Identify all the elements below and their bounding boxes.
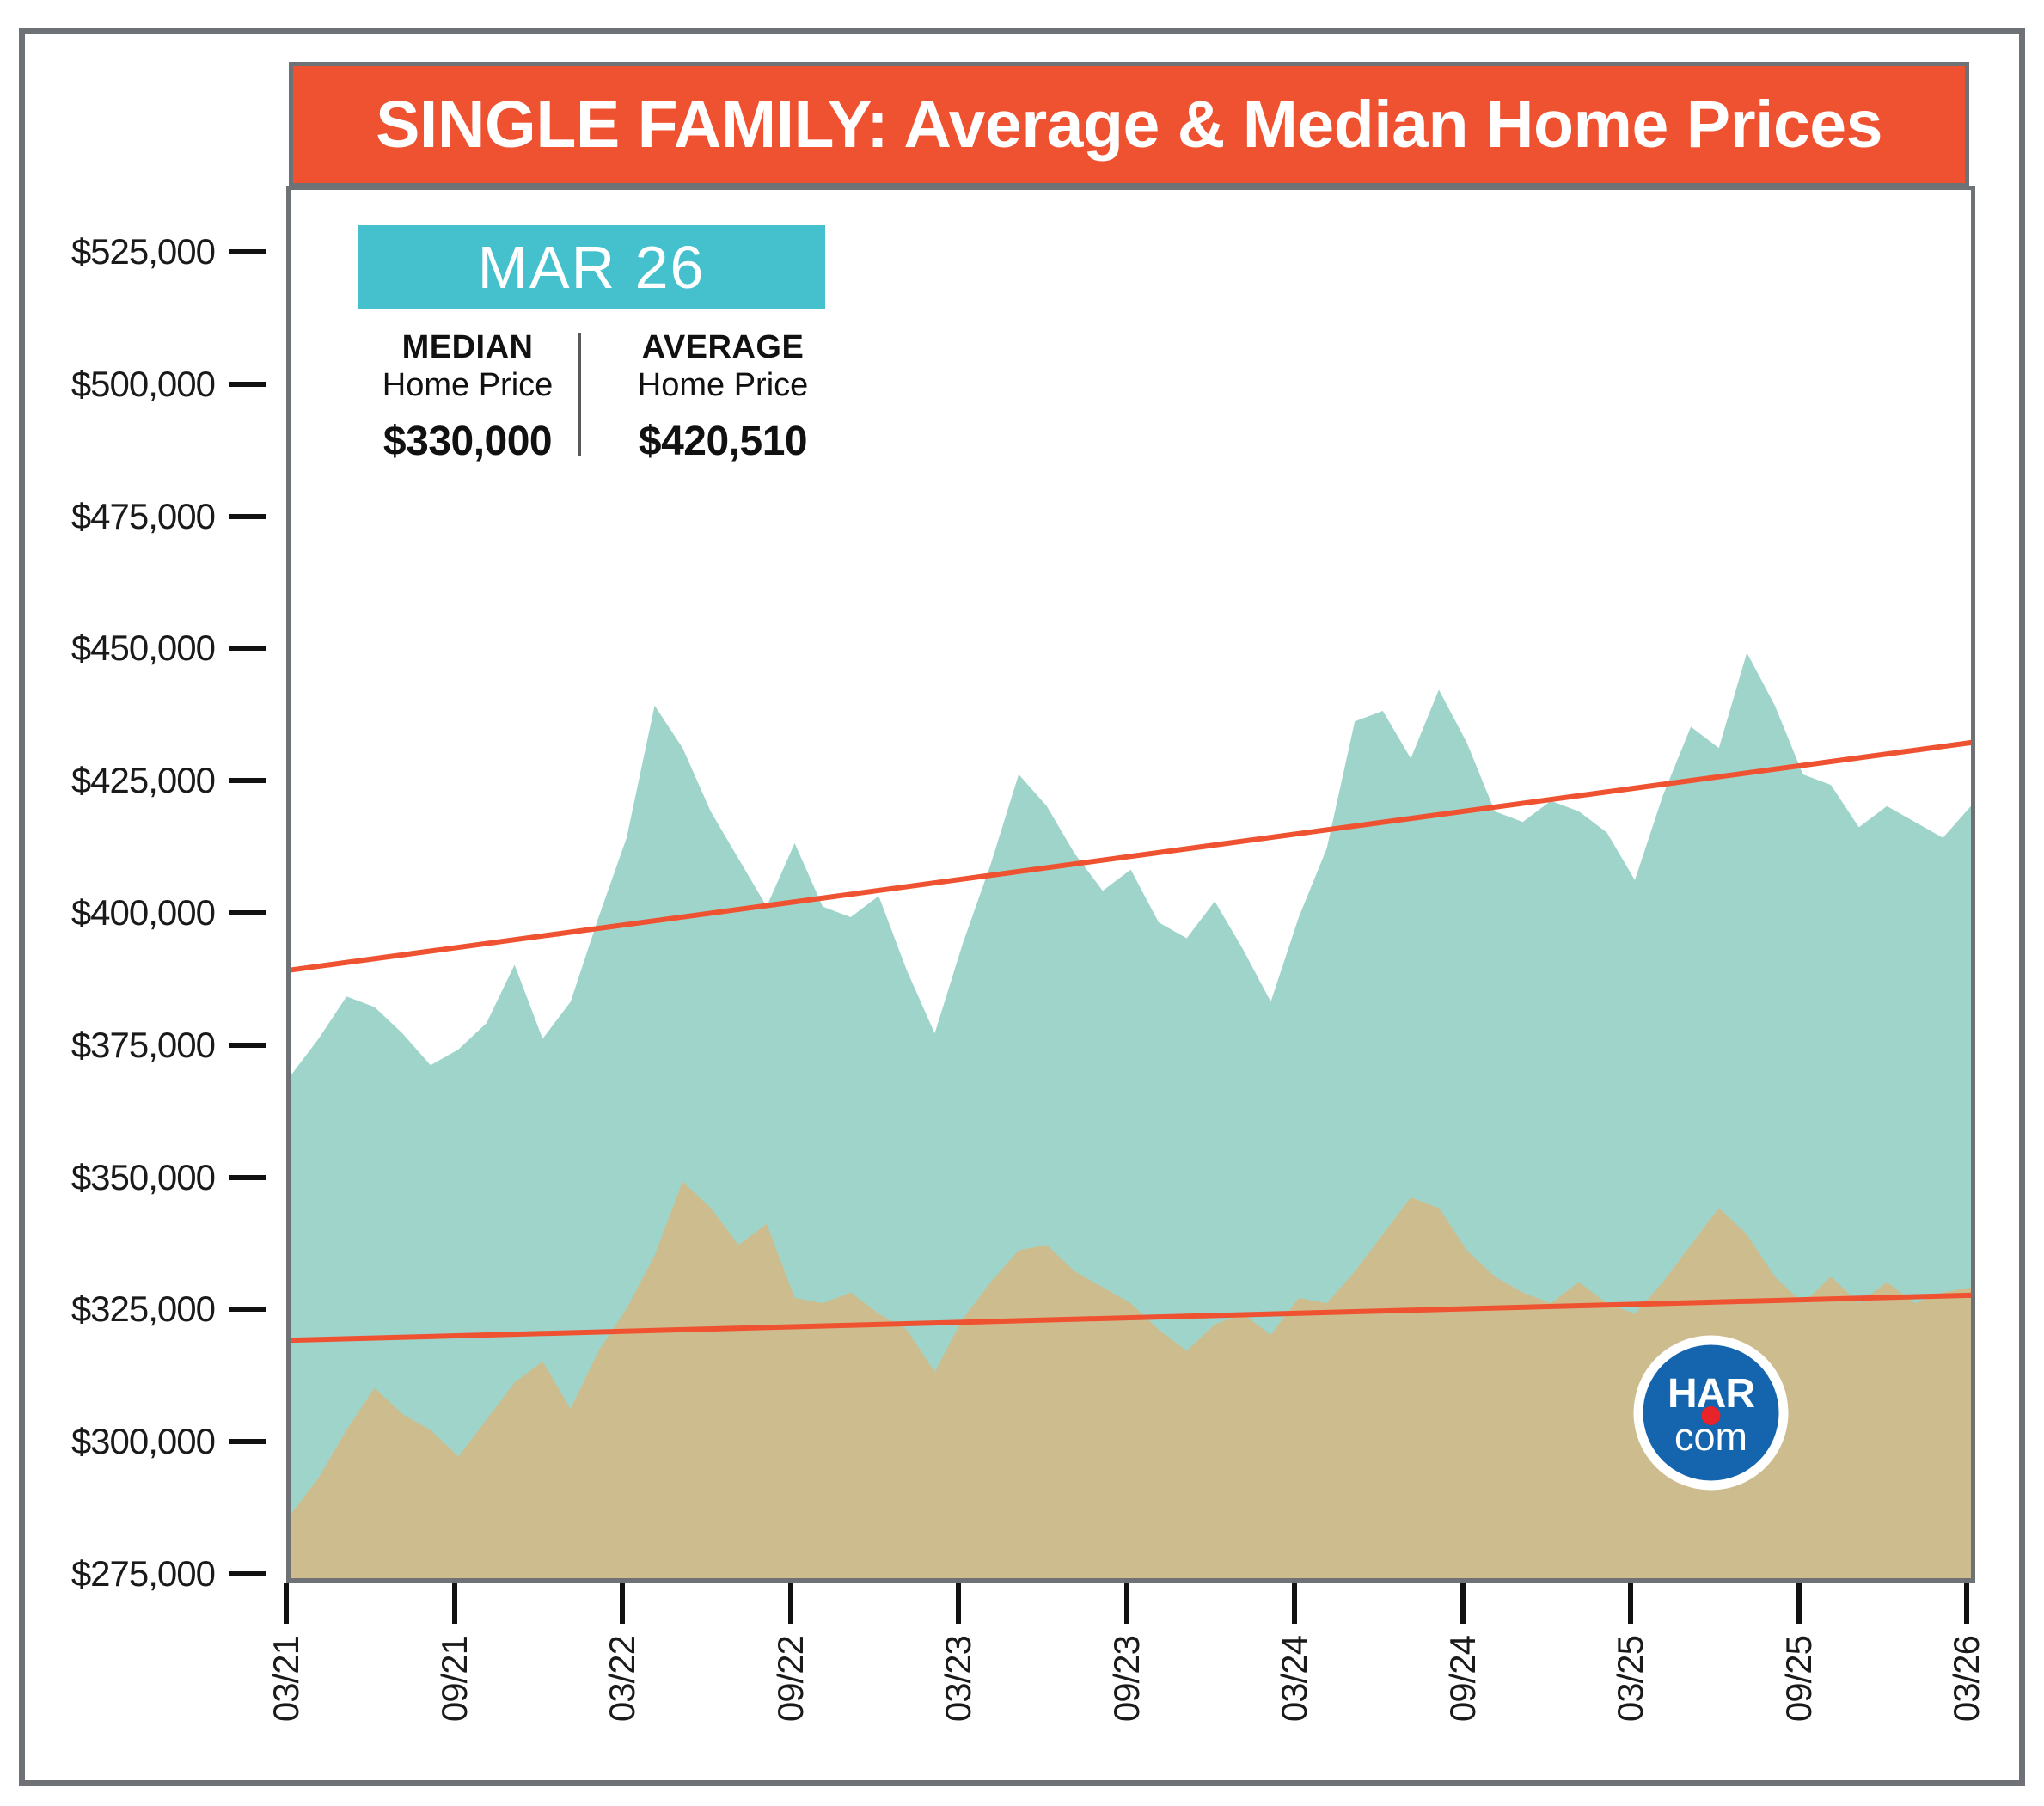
y-axis-tick-label: $375,000 xyxy=(71,1025,215,1066)
stats-row: MEDIAN Home Price $330,000 AVERAGE Home … xyxy=(358,329,839,465)
stats-panel: MAR 26 MEDIAN Home Price $330,000 AVERAG… xyxy=(358,225,839,465)
median-stat: MEDIAN Home Price $330,000 xyxy=(358,329,578,465)
x-axis-tick: 03/23 xyxy=(938,1583,979,1722)
x-axis-tick-mark xyxy=(1796,1583,1802,1624)
y-axis-tick: $450,000 xyxy=(71,628,266,669)
average-stat-sub: Home Price xyxy=(638,366,809,405)
month-badge: MAR 26 xyxy=(358,225,825,309)
y-axis-tick: $425,000 xyxy=(71,760,266,801)
har-com-logo: HAR com xyxy=(1631,1333,1790,1492)
y-axis-tick-label: $525,000 xyxy=(71,231,215,272)
y-axis-tick-mark xyxy=(229,910,266,915)
x-axis-tick-mark xyxy=(284,1583,289,1624)
x-axis-tick-label: 03/22 xyxy=(602,1636,643,1722)
x-axis-tick: 03/24 xyxy=(1274,1583,1315,1722)
x-axis-tick-mark xyxy=(1964,1583,1969,1624)
x-axis-tick: 09/22 xyxy=(770,1583,811,1722)
y-axis-tick: $500,000 xyxy=(71,364,266,405)
y-axis-tick-mark xyxy=(229,1439,266,1444)
x-axis-tick: 03/25 xyxy=(1610,1583,1651,1722)
y-axis-tick-label: $350,000 xyxy=(71,1157,215,1198)
x-axis-tick: 09/25 xyxy=(1778,1583,1820,1722)
page-title: SINGLE FAMILY: Average & Median Home Pri… xyxy=(376,87,1882,163)
x-axis-tick: 09/24 xyxy=(1442,1583,1484,1722)
x-axis-tick: 09/21 xyxy=(434,1583,475,1722)
x-axis-tick-mark xyxy=(452,1583,457,1624)
y-axis-tick-label: $400,000 xyxy=(71,892,215,934)
x-axis-tick: 03/22 xyxy=(602,1583,643,1722)
x-axis: 03/2109/2103/2209/2203/2309/2303/2409/24… xyxy=(286,1583,1975,1786)
median-stat-value: $330,000 xyxy=(383,418,552,465)
x-axis-tick-label: 09/23 xyxy=(1106,1636,1147,1722)
average-stat-kind: AVERAGE xyxy=(642,329,805,366)
y-axis-tick-label: $450,000 xyxy=(71,628,215,669)
y-axis-tick: $475,000 xyxy=(71,496,266,537)
x-axis-tick-label: 03/24 xyxy=(1274,1636,1315,1722)
y-axis-tick-mark xyxy=(229,778,266,783)
y-axis-tick-label: $475,000 xyxy=(71,496,215,537)
y-axis-tick: $525,000 xyxy=(71,231,266,272)
x-axis-tick-mark xyxy=(1460,1583,1466,1624)
x-axis-tick-mark xyxy=(956,1583,961,1624)
x-axis-tick-mark xyxy=(1292,1583,1297,1624)
x-axis-tick-mark xyxy=(788,1583,793,1624)
y-axis-tick: $375,000 xyxy=(71,1025,266,1066)
month-badge-label: MAR 26 xyxy=(478,233,706,302)
y-axis-tick: $350,000 xyxy=(71,1157,266,1198)
y-axis-tick: $275,000 xyxy=(71,1553,266,1595)
y-axis-tick-label: $425,000 xyxy=(71,760,215,801)
y-axis: $525,000$500,000$475,000$450,000$425,000… xyxy=(0,186,286,1583)
x-axis-tick: 03/26 xyxy=(1946,1583,1987,1722)
x-axis-tick-mark xyxy=(620,1583,625,1624)
x-axis-tick-label: 09/21 xyxy=(434,1636,475,1722)
y-axis-tick-mark xyxy=(229,249,266,254)
x-axis-tick-mark xyxy=(1124,1583,1129,1624)
y-axis-tick-mark xyxy=(229,1307,266,1312)
x-axis-tick: 03/21 xyxy=(266,1583,307,1722)
median-stat-sub: Home Price xyxy=(382,366,554,405)
y-axis-tick-mark xyxy=(229,382,266,387)
x-axis-tick: 09/23 xyxy=(1106,1583,1147,1722)
x-axis-tick-label: 03/25 xyxy=(1610,1636,1651,1722)
y-axis-tick: $325,000 xyxy=(71,1289,266,1330)
y-axis-tick-label: $300,000 xyxy=(71,1421,215,1462)
x-axis-tick-label: 03/26 xyxy=(1946,1636,1987,1722)
x-axis-tick-mark xyxy=(1628,1583,1633,1624)
y-axis-tick-label: $500,000 xyxy=(71,364,215,405)
y-axis-tick-mark xyxy=(229,1175,266,1180)
y-axis-tick: $400,000 xyxy=(71,892,266,934)
average-stat-value: $420,510 xyxy=(639,418,807,465)
y-axis-tick-mark xyxy=(229,646,266,651)
y-axis-tick: $300,000 xyxy=(71,1421,266,1462)
chart-title-bar: SINGLE FAMILY: Average & Median Home Pri… xyxy=(289,62,1969,187)
x-axis-tick-label: 09/24 xyxy=(1442,1636,1484,1722)
x-axis-tick-label: 09/25 xyxy=(1778,1636,1820,1722)
y-axis-tick-mark xyxy=(229,1043,266,1048)
y-axis-tick-label: $325,000 xyxy=(71,1289,215,1330)
logo-com-text: com xyxy=(1674,1415,1747,1459)
y-axis-tick-label: $275,000 xyxy=(71,1553,215,1595)
x-axis-tick-label: 03/23 xyxy=(938,1636,979,1722)
x-axis-tick-label: 03/21 xyxy=(266,1636,307,1722)
y-axis-tick-mark xyxy=(229,1571,266,1576)
median-stat-kind: MEDIAN xyxy=(402,329,534,366)
y-axis-tick-mark xyxy=(229,514,266,519)
x-axis-tick-label: 09/22 xyxy=(770,1636,811,1722)
average-stat: AVERAGE Home Price $420,510 xyxy=(581,329,839,465)
